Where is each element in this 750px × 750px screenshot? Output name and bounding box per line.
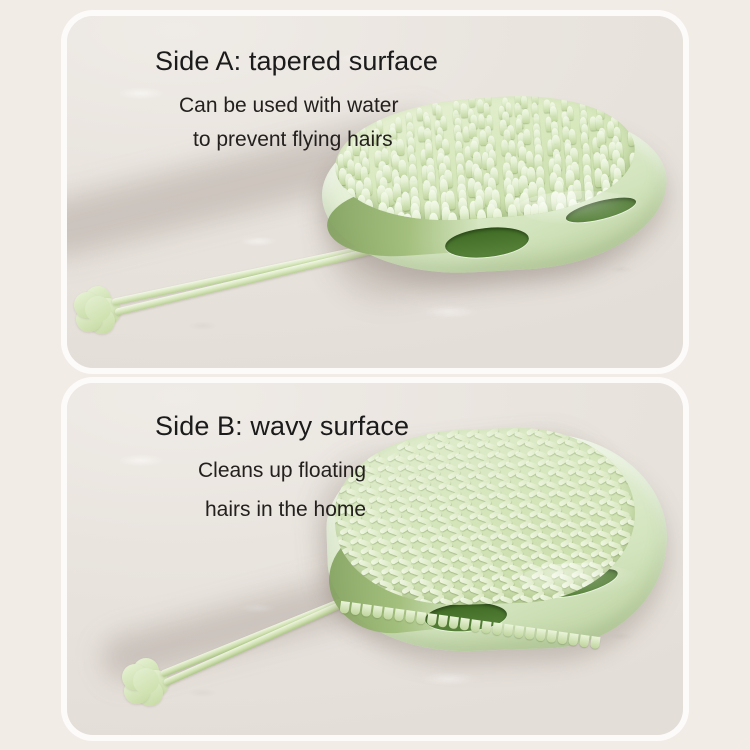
bristle xyxy=(522,109,529,124)
panel-a-title: Side A: tapered surface xyxy=(155,46,438,77)
bristle xyxy=(469,122,477,137)
bristle xyxy=(396,139,404,155)
wavy-chevron-surface xyxy=(332,424,638,609)
bristle xyxy=(520,95,527,108)
panel-side-b: Side B: wavy surface Cleans up floating … xyxy=(67,383,683,735)
bristle xyxy=(523,129,531,145)
panel-b-subtitle-line-2: hairs in the home xyxy=(205,498,366,522)
panel-b-title: Side B: wavy surface xyxy=(155,411,409,442)
bristle xyxy=(395,117,402,132)
bristle xyxy=(401,191,411,211)
panel-side-a: Side A: tapered surface Can be used with… xyxy=(67,16,683,368)
bristle xyxy=(528,182,538,202)
flower-handle-end-b xyxy=(123,658,169,704)
bristle xyxy=(476,99,483,112)
bristle xyxy=(364,199,374,219)
bristle xyxy=(461,104,468,118)
panel-b-subtitle-line-1: Cleans up floating xyxy=(198,459,366,483)
panel-a-subtitle-line-2: to prevent flying hairs xyxy=(193,128,393,152)
bristle xyxy=(601,187,611,207)
bristle xyxy=(525,151,534,168)
product-feature-image: Side A: tapered surface Can be used with… xyxy=(0,0,750,750)
flower-handle-end-a xyxy=(75,286,121,332)
panel-a-subtitle-line-1: Can be used with water xyxy=(179,94,398,118)
bristle xyxy=(346,188,355,207)
